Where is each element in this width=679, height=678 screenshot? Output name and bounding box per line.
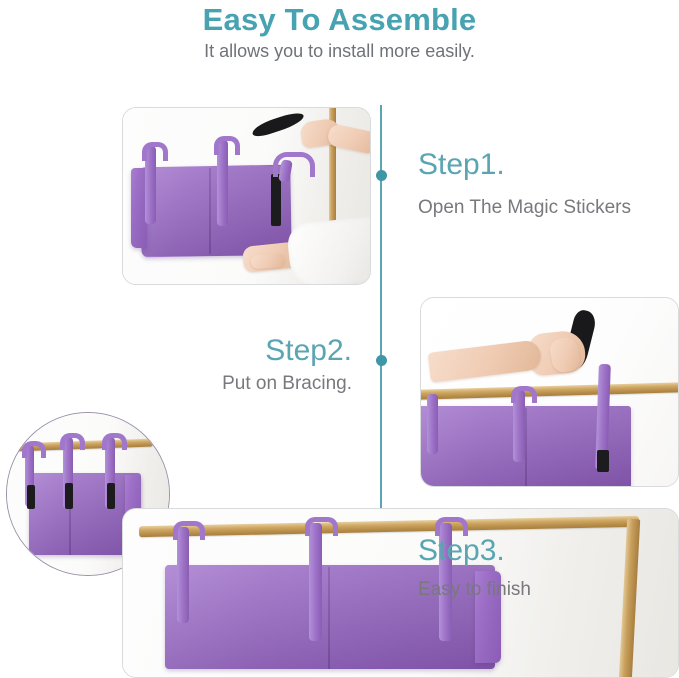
caddy-strap-mid-loop: [214, 136, 240, 155]
caddy-shading: [141, 166, 291, 256]
sleeve-lower: [286, 215, 371, 285]
step1-photo: [122, 107, 371, 285]
step3-description: Easy to finish: [418, 578, 531, 602]
page-title: Easy To Assemble: [0, 2, 679, 38]
step2-description: Put on Bracing.: [0, 372, 352, 396]
velcro-pad-mid: [65, 483, 73, 509]
velcro-pad: [271, 174, 281, 226]
step2-photo: [420, 297, 679, 487]
step3-scene: [123, 509, 678, 677]
page-subtitle: It allows you to install more easily.: [0, 40, 679, 62]
step3-title: Step3.: [418, 534, 505, 568]
caddy-strap-left-loop: [173, 521, 205, 540]
caddy-strap-left: [177, 527, 189, 623]
fingers-lower: [251, 253, 286, 269]
caddy-strap-left-loop: [22, 441, 46, 458]
caddy-strap-mid-loop: [305, 517, 338, 536]
caddy-strap-left-loop: [142, 142, 168, 161]
caddy-strap-mid-loop: [60, 433, 85, 450]
velcro-pad-right: [107, 483, 115, 509]
timeline-dot-step1: [376, 170, 387, 181]
timeline-dot-step2: [376, 355, 387, 366]
caddy-strap-left: [427, 394, 438, 454]
caddy-strap-right-loop: [273, 152, 315, 177]
step2-title: Step2.: [0, 334, 352, 368]
step1-description: Open The Magic Stickers: [418, 196, 631, 220]
step1-title: Step1.: [418, 148, 505, 182]
step2-scene: [421, 298, 678, 486]
assembly-instruction-graphic: Easy To Assemble It allows you to instal…: [0, 0, 679, 678]
velcro-pad-left: [27, 485, 35, 509]
caddy-strap-mid: [309, 523, 322, 641]
velcro-pad: [597, 450, 609, 472]
caddy-strap-mid-loop: [511, 386, 537, 403]
caddy-strap-right-loop: [102, 433, 127, 450]
step3-photo: [122, 508, 679, 678]
step1-scene: [123, 108, 370, 284]
